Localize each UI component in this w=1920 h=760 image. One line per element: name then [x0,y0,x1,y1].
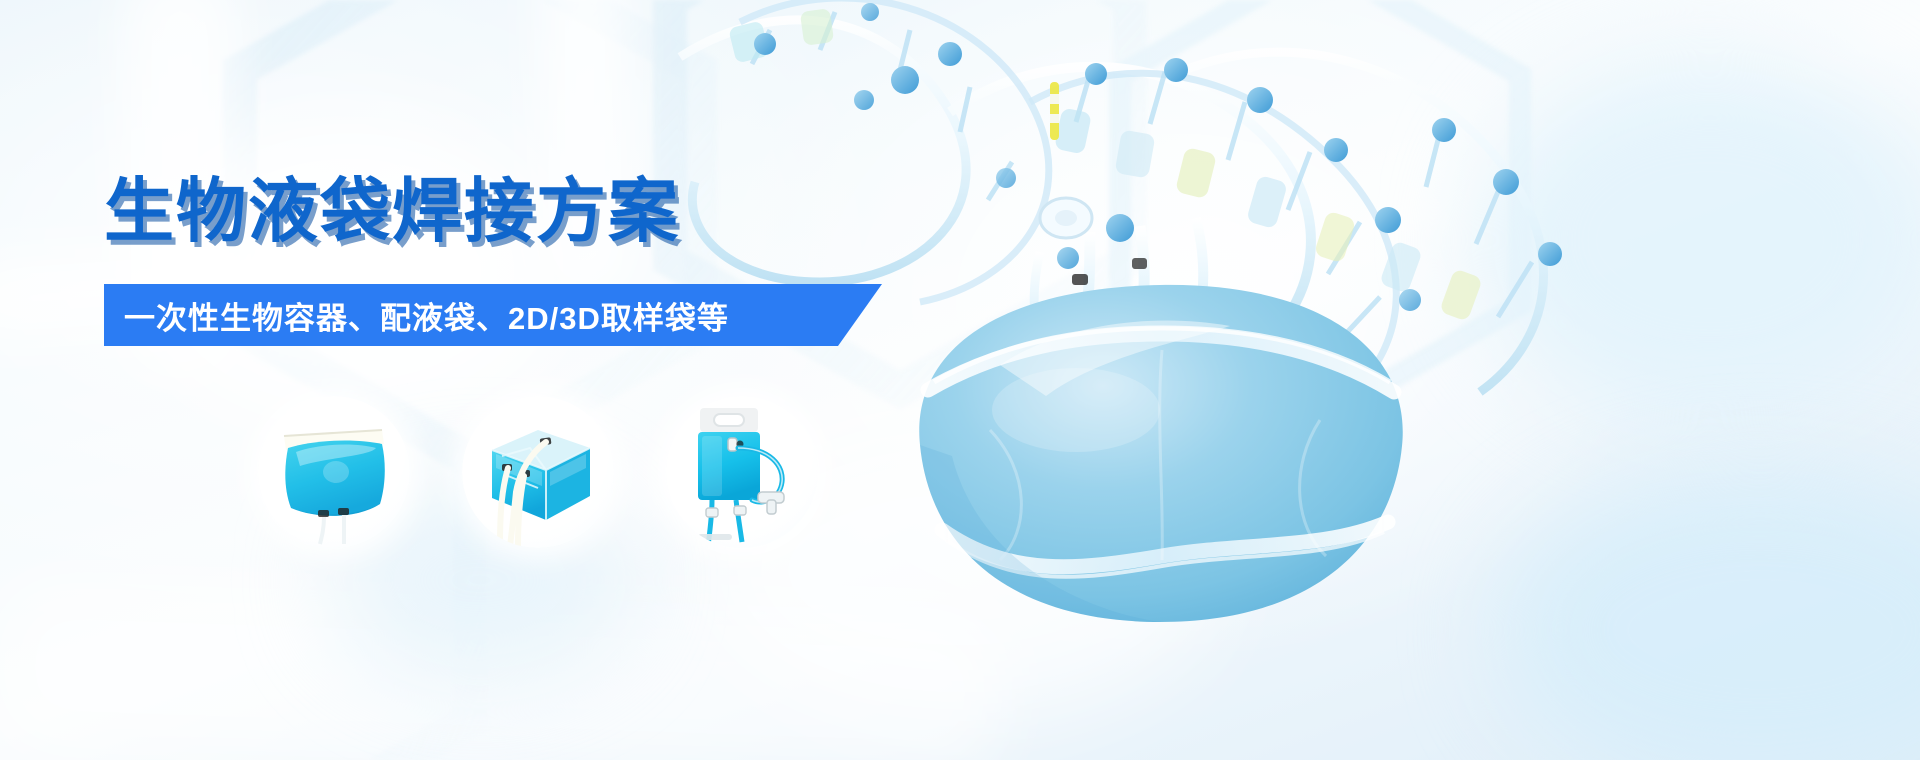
2d-liquid-bag-icon [258,396,410,548]
accent-marker-icon [1050,82,1059,140]
thumbnail-3d-cube-bag[interactable] [462,396,614,548]
large-bioreactor-bag [880,230,1440,660]
background-blob [140,120,560,420]
3d-cube-bag-icon [462,396,614,548]
subtitle-text: 一次性生物容器、配液袋、2D/3D取样袋等 [104,293,729,338]
thumbnail-2d-liquid-bag[interactable] [258,396,410,548]
sampling-bag-icon [666,396,818,548]
product-banner: 生物液袋焊接方案 一次性生物容器、配液袋、2D/3D取样袋等 [0,0,1920,760]
subtitle-bar: 一次性生物容器、配液袋、2D/3D取样袋等 [104,284,882,346]
headline-wrapper: 生物液袋焊接方案 [104,176,680,246]
page-title: 生物液袋焊接方案 [104,176,680,246]
thumbnail-sampling-bag[interactable] [666,396,818,548]
